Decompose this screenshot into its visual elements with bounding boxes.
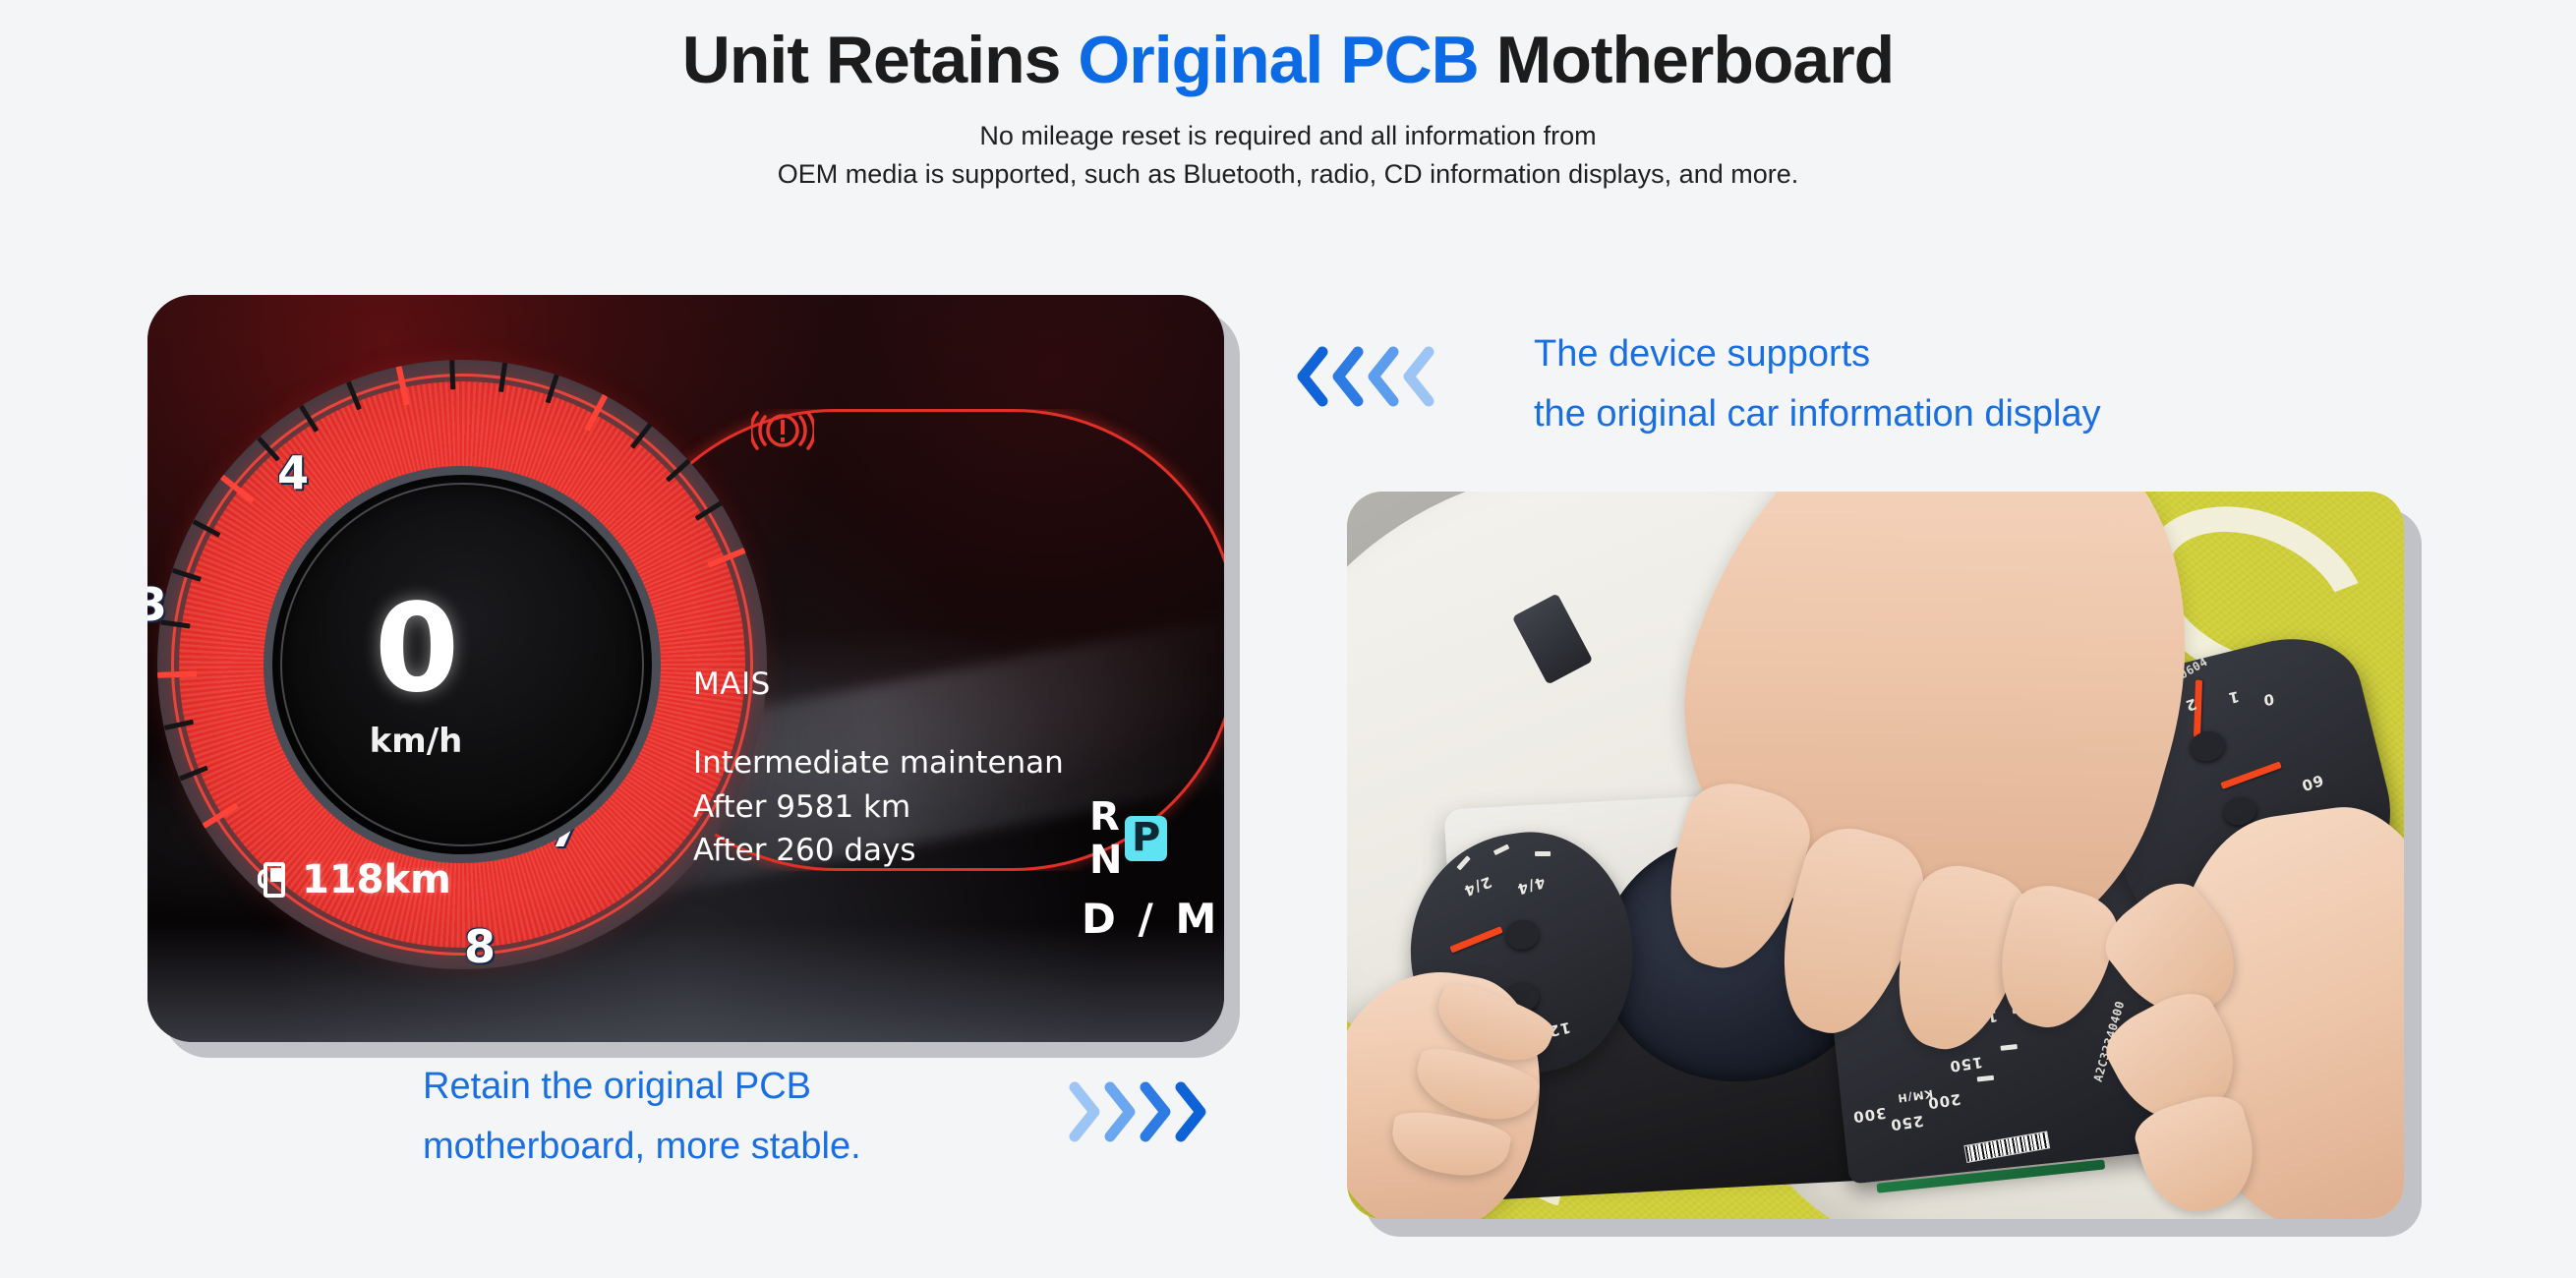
promo-page: Unit Retains Original PCB Motherboard No… bbox=[0, 0, 2576, 1278]
gear-rnp-group: R N P bbox=[1082, 798, 1190, 893]
page-header: Unit Retains Original PCB Motherboard No… bbox=[0, 0, 2576, 194]
page-subtitle: No mileage reset is required and all inf… bbox=[0, 117, 2576, 194]
speed-unit: km/h bbox=[283, 722, 549, 761]
mais-line-1: Intermediate maintenan bbox=[693, 741, 1064, 785]
chevron-group-right bbox=[1067, 1081, 1208, 1142]
title-accent: Original PCB bbox=[1078, 23, 1478, 97]
speedo-label-300: 300 bbox=[1851, 1104, 1887, 1127]
gear-r: R bbox=[1089, 794, 1120, 840]
range-value: 118km bbox=[302, 857, 451, 902]
gear-dm: D / M bbox=[1082, 895, 1220, 943]
title-part-3: Motherboard bbox=[1479, 23, 1894, 97]
chevron-left-icon bbox=[1399, 346, 1434, 407]
chevron-right-icon bbox=[1173, 1081, 1208, 1142]
gauge-label-4-4: 4/4 bbox=[1514, 873, 1547, 898]
gauge-hub bbox=[1503, 917, 1541, 951]
bottom-caption: Retain the original PCB motherboard, mor… bbox=[423, 1057, 861, 1177]
barcode-label bbox=[1963, 1132, 2050, 1164]
bottom-caption-line-1: Retain the original PCB bbox=[423, 1057, 861, 1117]
chevron-left-icon bbox=[1293, 346, 1328, 407]
tach-number-8: 8 bbox=[464, 920, 496, 973]
gauge-label-2-4: 2/4 bbox=[1460, 873, 1493, 900]
gauge-tick bbox=[1976, 1075, 1993, 1082]
tach-tick bbox=[449, 360, 455, 389]
bottom-caption-line-2: motherboard, more stable. bbox=[423, 1117, 861, 1177]
gauge-tick bbox=[1493, 844, 1510, 856]
cluster-screen: 3 4 5 6 7 8 0 km/h 118km MAIS Interme bbox=[147, 295, 1224, 1042]
speedo-label-250: 250 bbox=[1888, 1112, 1923, 1134]
right-caption-line-2: the original car information display bbox=[1534, 384, 2101, 444]
mais-title: MAIS bbox=[693, 667, 1064, 702]
photo-inner: 2/4 4/4 90 120 50 100 150 200 250 300 KM… bbox=[1347, 492, 2404, 1219]
dashboard-cluster-image: 3 4 5 6 7 8 0 km/h 118km MAIS Interme bbox=[147, 295, 1224, 1042]
chevron-left-icon bbox=[1328, 346, 1364, 407]
tach-label-1: 1 bbox=[2226, 686, 2241, 706]
tachometer-gauge: 3 4 5 6 7 8 0 km/h bbox=[157, 360, 767, 969]
right-gauge-60: 60 bbox=[2299, 771, 2325, 794]
service-info-block: MAIS Intermediate maintenan After 9581 k… bbox=[693, 667, 1064, 873]
chevron-group-left bbox=[1293, 346, 1434, 407]
subtitle-line-1: No mileage reset is required and all inf… bbox=[0, 117, 2576, 155]
disassembly-photo: 2/4 4/4 90 120 50 100 150 200 250 300 KM… bbox=[1347, 492, 2404, 1219]
gear-indicator: R N P D / M bbox=[1082, 798, 1220, 943]
chevron-right-icon bbox=[1138, 1081, 1173, 1142]
chevron-left-icon bbox=[1364, 346, 1399, 407]
page-title: Unit Retains Original PCB Motherboard bbox=[0, 0, 2576, 95]
gauge-tick bbox=[1456, 855, 1470, 870]
fuel-pump-icon bbox=[258, 860, 293, 900]
gear-p-active: P bbox=[1125, 816, 1167, 861]
tach-label-0: 0 bbox=[2261, 690, 2274, 709]
title-part-1: Unit Retains bbox=[682, 23, 1079, 97]
speedo-label-150: 150 bbox=[1948, 1053, 1983, 1075]
chevron-right-icon bbox=[1067, 1081, 1102, 1142]
right-caption-line-1: The device supports bbox=[1534, 324, 2101, 384]
chevron-right-icon bbox=[1102, 1081, 1138, 1142]
tach-needle-2 bbox=[2221, 761, 2283, 788]
speed-value: 0 bbox=[283, 588, 549, 710]
subtitle-line-2: OEM media is supported, such as Bluetoot… bbox=[0, 155, 2576, 194]
gauge-tick bbox=[1535, 851, 1551, 856]
gear-n: N bbox=[1089, 838, 1122, 883]
range-readout: 118km bbox=[258, 857, 451, 902]
tach-number-3: 3 bbox=[147, 578, 167, 631]
gauge-tick bbox=[2000, 1044, 2017, 1051]
right-caption: The device supports the original car inf… bbox=[1534, 324, 2101, 444]
gauge-needle bbox=[1448, 926, 1502, 953]
mais-line-2: After 9581 km bbox=[693, 785, 1064, 830]
mais-line-3: After 260 days bbox=[693, 829, 1064, 873]
tach-number-4: 4 bbox=[277, 446, 309, 499]
